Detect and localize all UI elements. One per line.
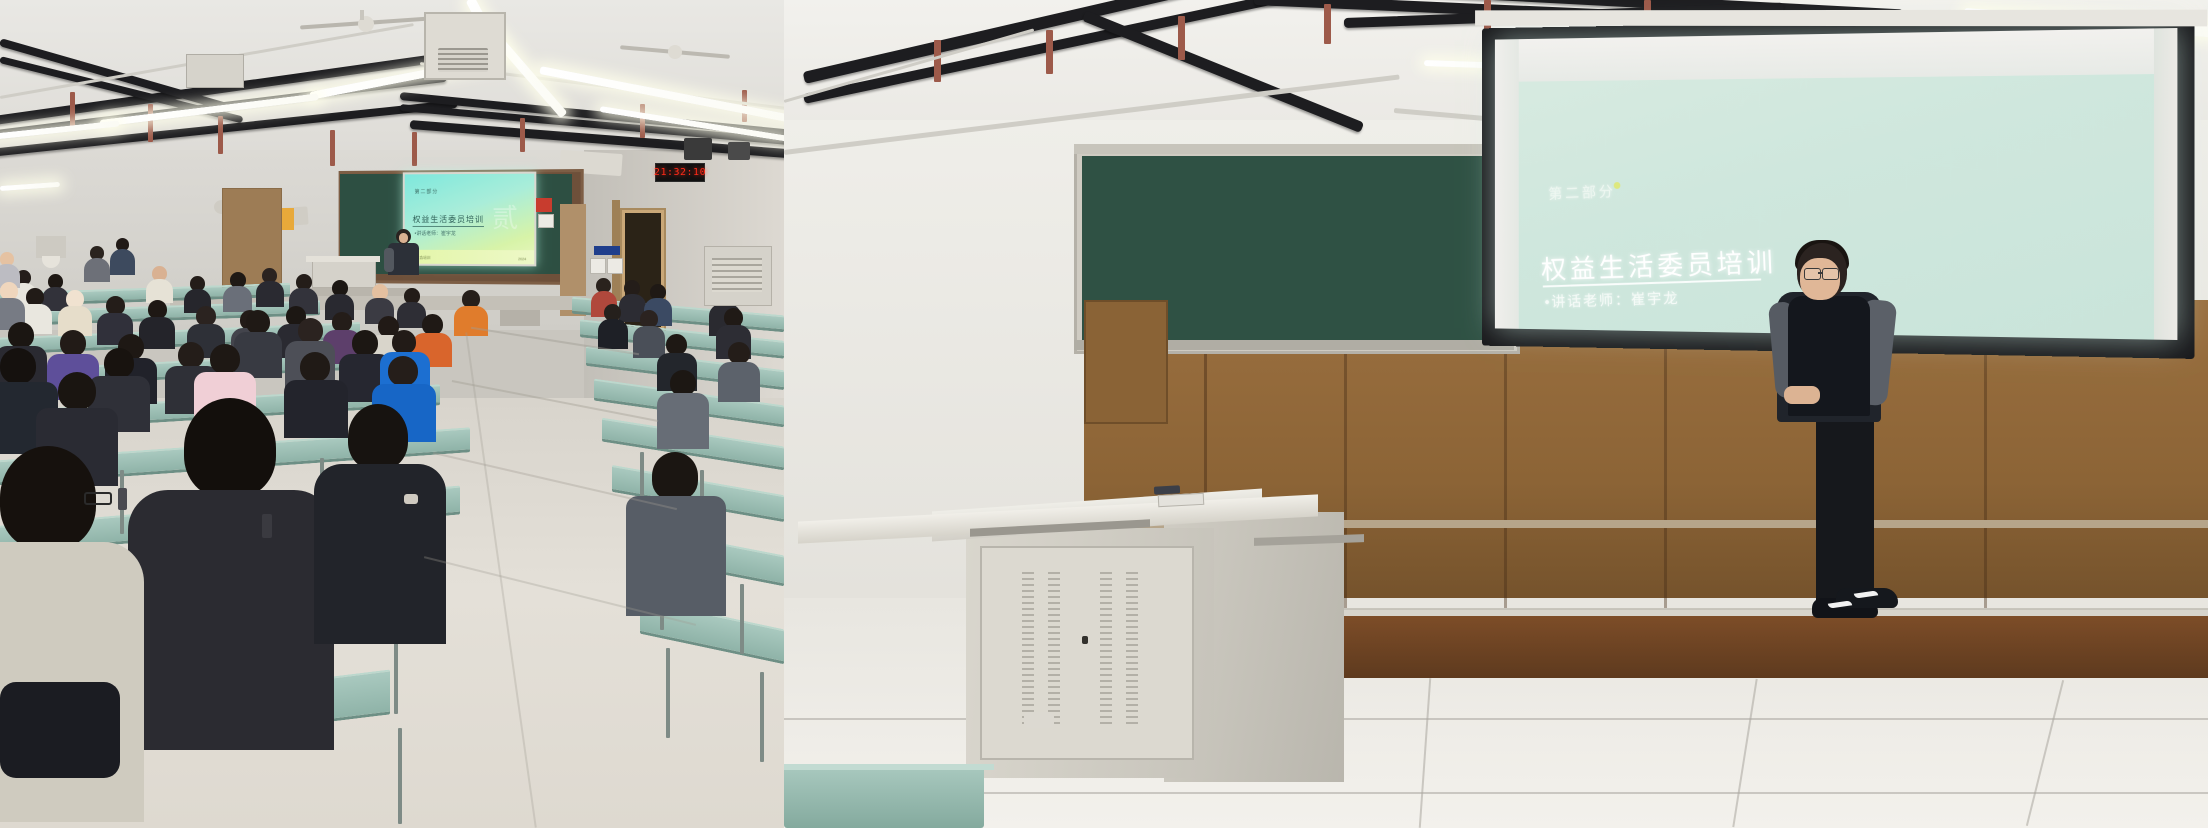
digital-wall-clock: 21:32:10 (655, 163, 705, 182)
safety-placard (538, 214, 554, 228)
backpack-on-bench (0, 682, 120, 778)
speaker-eyeglasses (1804, 268, 1821, 280)
ceiling-fan (300, 10, 430, 36)
podium-cabinet-door (980, 546, 1194, 760)
blue-directional-sign (536, 198, 552, 212)
podium-lock (1082, 636, 1088, 644)
pipe-hanger (1178, 16, 1185, 60)
water-bottle (118, 488, 127, 510)
water-bottle (262, 514, 272, 538)
eyeglasses-bridge (1818, 272, 1823, 274)
desk-leg (666, 648, 670, 738)
pipe-hanger (218, 116, 223, 154)
screen-roller-housing (1475, 10, 2207, 27)
remote-control (1154, 485, 1180, 494)
pipe-hanger (70, 92, 75, 128)
front-podium-shelf (306, 256, 380, 262)
slide-title: 权益生活委员培训 (413, 214, 484, 227)
pipe-hanger (412, 132, 417, 166)
desk-leg (760, 672, 764, 762)
pipe-hanger (330, 130, 335, 166)
right-photograph: 挂钟时间 考试以此为准 第二部分 权益生活委员培训 •讲话老师：崔宇龙 (784, 0, 2208, 828)
side-cabinet-vent (712, 258, 762, 292)
podium-vent-slots (1048, 572, 1060, 724)
pipe-hanger (520, 118, 525, 152)
podium-vent-slots (1126, 572, 1138, 724)
wall-access-panel (1084, 300, 1168, 424)
ceiling-fan (620, 42, 730, 62)
photo-pair-sheet: 贰 第二部分 权益生活委员培训 •讲话老师：崔宇龙 学生会培训 2024 21:… (0, 0, 2208, 828)
ceiling-air-vent-grille (438, 48, 488, 72)
speaker-hand (1784, 386, 1820, 404)
ceiling-air-vent (186, 54, 244, 88)
floor-litter (1024, 712, 1054, 728)
left-projection-screen: 贰 第二部分 权益生活委员培训 •讲话老师：崔宇龙 学生会培训 2024 (403, 172, 536, 267)
safety-placard (607, 258, 623, 274)
security-camera (36, 236, 66, 258)
presenter-arm (384, 248, 394, 272)
slide-bullet-dot (1614, 182, 1621, 189)
podium-vent-slots (1100, 572, 1112, 724)
wall-speaker (728, 142, 750, 160)
floor-tile-line (784, 792, 2208, 794)
slide-footer-right: 2024 (518, 257, 526, 261)
student-desk-foreground (784, 766, 984, 828)
left-photograph: 贰 第二部分 权益生活委员培训 •讲话老师：崔宇龙 学生会培训 2024 21:… (0, 0, 784, 828)
screen-right-margin (2154, 28, 2177, 340)
clock-time: 21:32:10 (654, 167, 706, 178)
slide-subtitle: •讲话老师：崔宇龙 (1544, 287, 1680, 312)
pipe-hanger (934, 40, 941, 82)
presenter-face (399, 233, 408, 243)
slide-section-label: 第二部分 (1548, 181, 1616, 204)
speaker-eyeglasses (1822, 268, 1839, 280)
pipe-hanger (148, 104, 153, 142)
eyeglasses (84, 492, 112, 505)
desk-edge-highlight (784, 764, 994, 770)
wood-plank-seam (1664, 300, 1667, 630)
pipe-hanger (640, 104, 645, 138)
desk-leg (398, 728, 402, 824)
speaker-legs (1816, 412, 1874, 612)
blue-directional-sign (594, 246, 620, 255)
podium-vent-slots (1022, 572, 1034, 724)
pipe-hanger (1324, 4, 1331, 44)
wall-speaker (684, 138, 712, 160)
desk-leg (740, 584, 744, 654)
floor-litter (404, 494, 418, 504)
chalkboard-rail (1074, 144, 1514, 154)
pipe-hanger (1046, 30, 1053, 74)
screen-left-margin (1495, 39, 1519, 329)
slide-watermark: 贰 (492, 198, 518, 235)
slide-subtitle: •讲话老师：崔宇龙 (415, 230, 456, 237)
document-on-podium (1158, 493, 1205, 507)
safety-placard (590, 258, 606, 274)
blue-directional-sign (282, 208, 294, 230)
slide-section-label: 第二部分 (415, 188, 439, 195)
